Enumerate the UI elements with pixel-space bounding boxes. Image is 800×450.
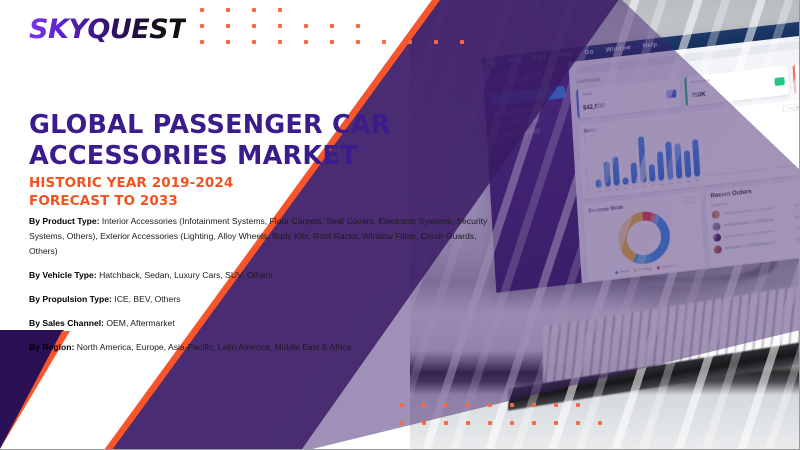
sidebar-item-customers[interactable] — [495, 128, 541, 138]
decorative-dot — [278, 24, 282, 28]
decorative-dot — [422, 403, 426, 407]
sidebar-item-orders[interactable] — [493, 106, 539, 116]
decorative-dot — [200, 8, 204, 12]
decorative-dot — [532, 421, 536, 425]
decorative-dot — [278, 40, 282, 44]
x-tick-label: Jul — [650, 183, 656, 188]
segment-row: By Propulsion Type: ICE, BEV, Others — [29, 292, 491, 307]
stat-card-customers[interactable]: Customers 750K — [684, 65, 789, 106]
menu-item-window[interactable]: Window — [606, 45, 632, 54]
decorative-dot — [330, 40, 334, 44]
decorative-dot — [252, 24, 256, 28]
decorative-dot — [304, 40, 308, 44]
decorative-dot — [444, 403, 448, 407]
decorative-dot — [576, 403, 580, 407]
decorative-dot — [510, 421, 514, 425]
decorative-dot — [488, 403, 492, 407]
legend-item-pending: Pending — [634, 266, 652, 272]
x-tick-label: Jan — [596, 189, 602, 194]
report-period: HISTORIC YEAR 2019-2024 FORECAST TO 2033 — [29, 175, 233, 211]
x-tick-label: Dec — [694, 178, 700, 183]
segment-row: By Region: North America, Europe, Asia-P… — [29, 340, 491, 355]
segment-list: By Product Type: Interior Accessories (I… — [29, 214, 491, 363]
segment-label: By Propulsion Type: — [29, 294, 114, 304]
decorative-dot — [532, 403, 536, 407]
menu-item-file[interactable]: File — [509, 58, 521, 65]
decorative-dot — [304, 24, 308, 28]
bar — [612, 156, 620, 186]
revenue-donut-card: Revenue Mode ··· Direct Pending Cancelle… — [583, 191, 705, 281]
dot-row — [200, 24, 486, 28]
bar — [603, 161, 610, 187]
decorative-dot — [434, 40, 438, 44]
sidebar-item-products[interactable] — [494, 117, 540, 127]
donut-chart — [617, 209, 672, 267]
decorative-dot — [488, 421, 492, 425]
forecast-line: FORECAST TO 2033 — [29, 193, 233, 211]
menu-item-help[interactable]: Help — [643, 42, 658, 50]
stat-label-sales: Sales — [582, 89, 604, 96]
segment-label: By Product Type: — [29, 216, 102, 226]
dashboard-main: Dashboard Sales $42,500 Customers — [568, 24, 800, 283]
decorative-dot — [200, 40, 204, 44]
dashboard-screen: File Edit View Go Window Help 100% WEBEX — [482, 10, 800, 292]
decorative-dot — [598, 421, 602, 425]
decorative-dot — [400, 421, 404, 425]
stat-value-sales: $42,500 — [583, 103, 605, 111]
x-tick-label: Mar — [614, 187, 620, 192]
segment-value: North America, Europe, Asia-Pacific, Lat… — [77, 342, 352, 352]
segment-label: By Sales Channel: — [29, 318, 106, 328]
decorative-dot — [226, 40, 230, 44]
x-tick-label: Feb — [605, 188, 611, 193]
x-tick-label: Apr — [623, 186, 629, 191]
stat-card-sales[interactable]: Sales $42,500 — [576, 78, 681, 119]
poster-content: SKYQUEST GLOBAL PASSENGER CAR ACCESSORIE… — [0, 0, 440, 450]
segment-label: By Region: — [29, 342, 77, 352]
decorative-dot — [460, 40, 464, 44]
avatar — [713, 233, 721, 242]
decorative-dot — [200, 24, 204, 28]
segment-value: Hatchback, Sedan, Luxury Cars, SUV, Othe… — [99, 270, 273, 280]
segment-value: OEM, Aftermarket — [106, 318, 174, 328]
x-tick-label: Nov — [686, 179, 692, 184]
stat-label-customers: Customers — [690, 77, 710, 84]
donut-chart-title: Revenue Mode — [588, 204, 623, 214]
dashboard-brand: WEBEX — [483, 68, 569, 87]
decorative-dot — [382, 40, 386, 44]
dot-row — [200, 40, 486, 44]
decorative-dot — [554, 421, 558, 425]
bar — [649, 164, 656, 182]
decorative-dot — [252, 40, 256, 44]
decorative-dot — [226, 8, 230, 12]
avatar — [714, 245, 722, 254]
segment-row: By Vehicle Type: Hatchback, Sedan, Luxur… — [29, 268, 491, 283]
decorative-dot — [422, 421, 426, 425]
bar — [630, 162, 637, 184]
poster-canvas: File Edit View Go Window Help 100% WEBEX — [0, 0, 800, 450]
skyquest-logo[interactable]: SKYQUEST — [29, 14, 186, 45]
decorative-dot — [466, 421, 470, 425]
bar — [692, 140, 700, 177]
bar — [638, 136, 647, 183]
decorative-dot — [408, 40, 412, 44]
bar — [674, 143, 682, 178]
avatar — [712, 222, 720, 231]
apple-logo-icon — [490, 60, 497, 68]
decorative-dot — [356, 40, 360, 44]
customers-icon — [774, 76, 784, 85]
menu-item-edit[interactable]: Edit — [533, 55, 546, 62]
bar — [665, 141, 673, 180]
segment-row: By Product Type: Interior Accessories (I… — [29, 214, 491, 258]
decorative-dot — [400, 403, 404, 407]
decorative-dot — [554, 403, 558, 407]
x-tick-label: Aug — [659, 182, 665, 187]
sidebar-item-dashboard[interactable] — [489, 86, 565, 107]
decorative-dot — [356, 24, 360, 28]
bar — [684, 150, 692, 178]
dot-row — [400, 403, 620, 407]
bar-chart-title: Sales — [583, 127, 596, 134]
segment-row: By Sales Channel: OEM, Aftermarket — [29, 316, 491, 331]
decorative-dot — [510, 403, 514, 407]
decorative-dots-bottom — [400, 403, 620, 439]
bar — [596, 180, 602, 188]
legend-item-cancelled: Cancelled — [656, 263, 677, 269]
x-tick-label: May — [632, 185, 638, 190]
legend-item-direct: Direct — [615, 269, 629, 275]
bar-chart-period-dropdown[interactable]: This Year — [782, 103, 800, 113]
decorative-dot — [278, 8, 282, 12]
menu-item-view[interactable]: View — [558, 52, 573, 60]
menu-item-go[interactable]: Go — [585, 49, 594, 56]
decorative-dot — [226, 24, 230, 28]
decorative-dot — [444, 421, 448, 425]
donut-more-icon[interactable]: ··· — [684, 196, 696, 204]
segment-label: By Vehicle Type: — [29, 270, 99, 280]
x-tick-label: Jun — [641, 184, 647, 189]
x-tick-label: Oct — [677, 180, 683, 185]
stat-value-customers: 750K — [691, 92, 706, 100]
segment-value: ICE, BEV, Others — [114, 294, 180, 304]
decorative-dot — [252, 8, 256, 12]
decorative-dot — [330, 24, 334, 28]
historic-year-line: HISTORIC YEAR 2019-2024 — [29, 175, 233, 193]
bar — [622, 177, 628, 184]
decorative-dot — [576, 421, 580, 425]
decorative-dots-top — [200, 8, 486, 56]
avatar — [711, 210, 719, 219]
bar — [657, 151, 665, 181]
dot-row — [400, 421, 620, 425]
dot-row — [200, 8, 486, 12]
page-title: GLOBAL PASSENGER CAR ACCESSORIES MARKET — [29, 110, 399, 172]
dashboard-sidebar: WEBEX — [483, 62, 582, 293]
sales-icon — [666, 89, 676, 98]
x-tick-label: Sep — [668, 181, 674, 186]
decorative-dot — [466, 403, 470, 407]
